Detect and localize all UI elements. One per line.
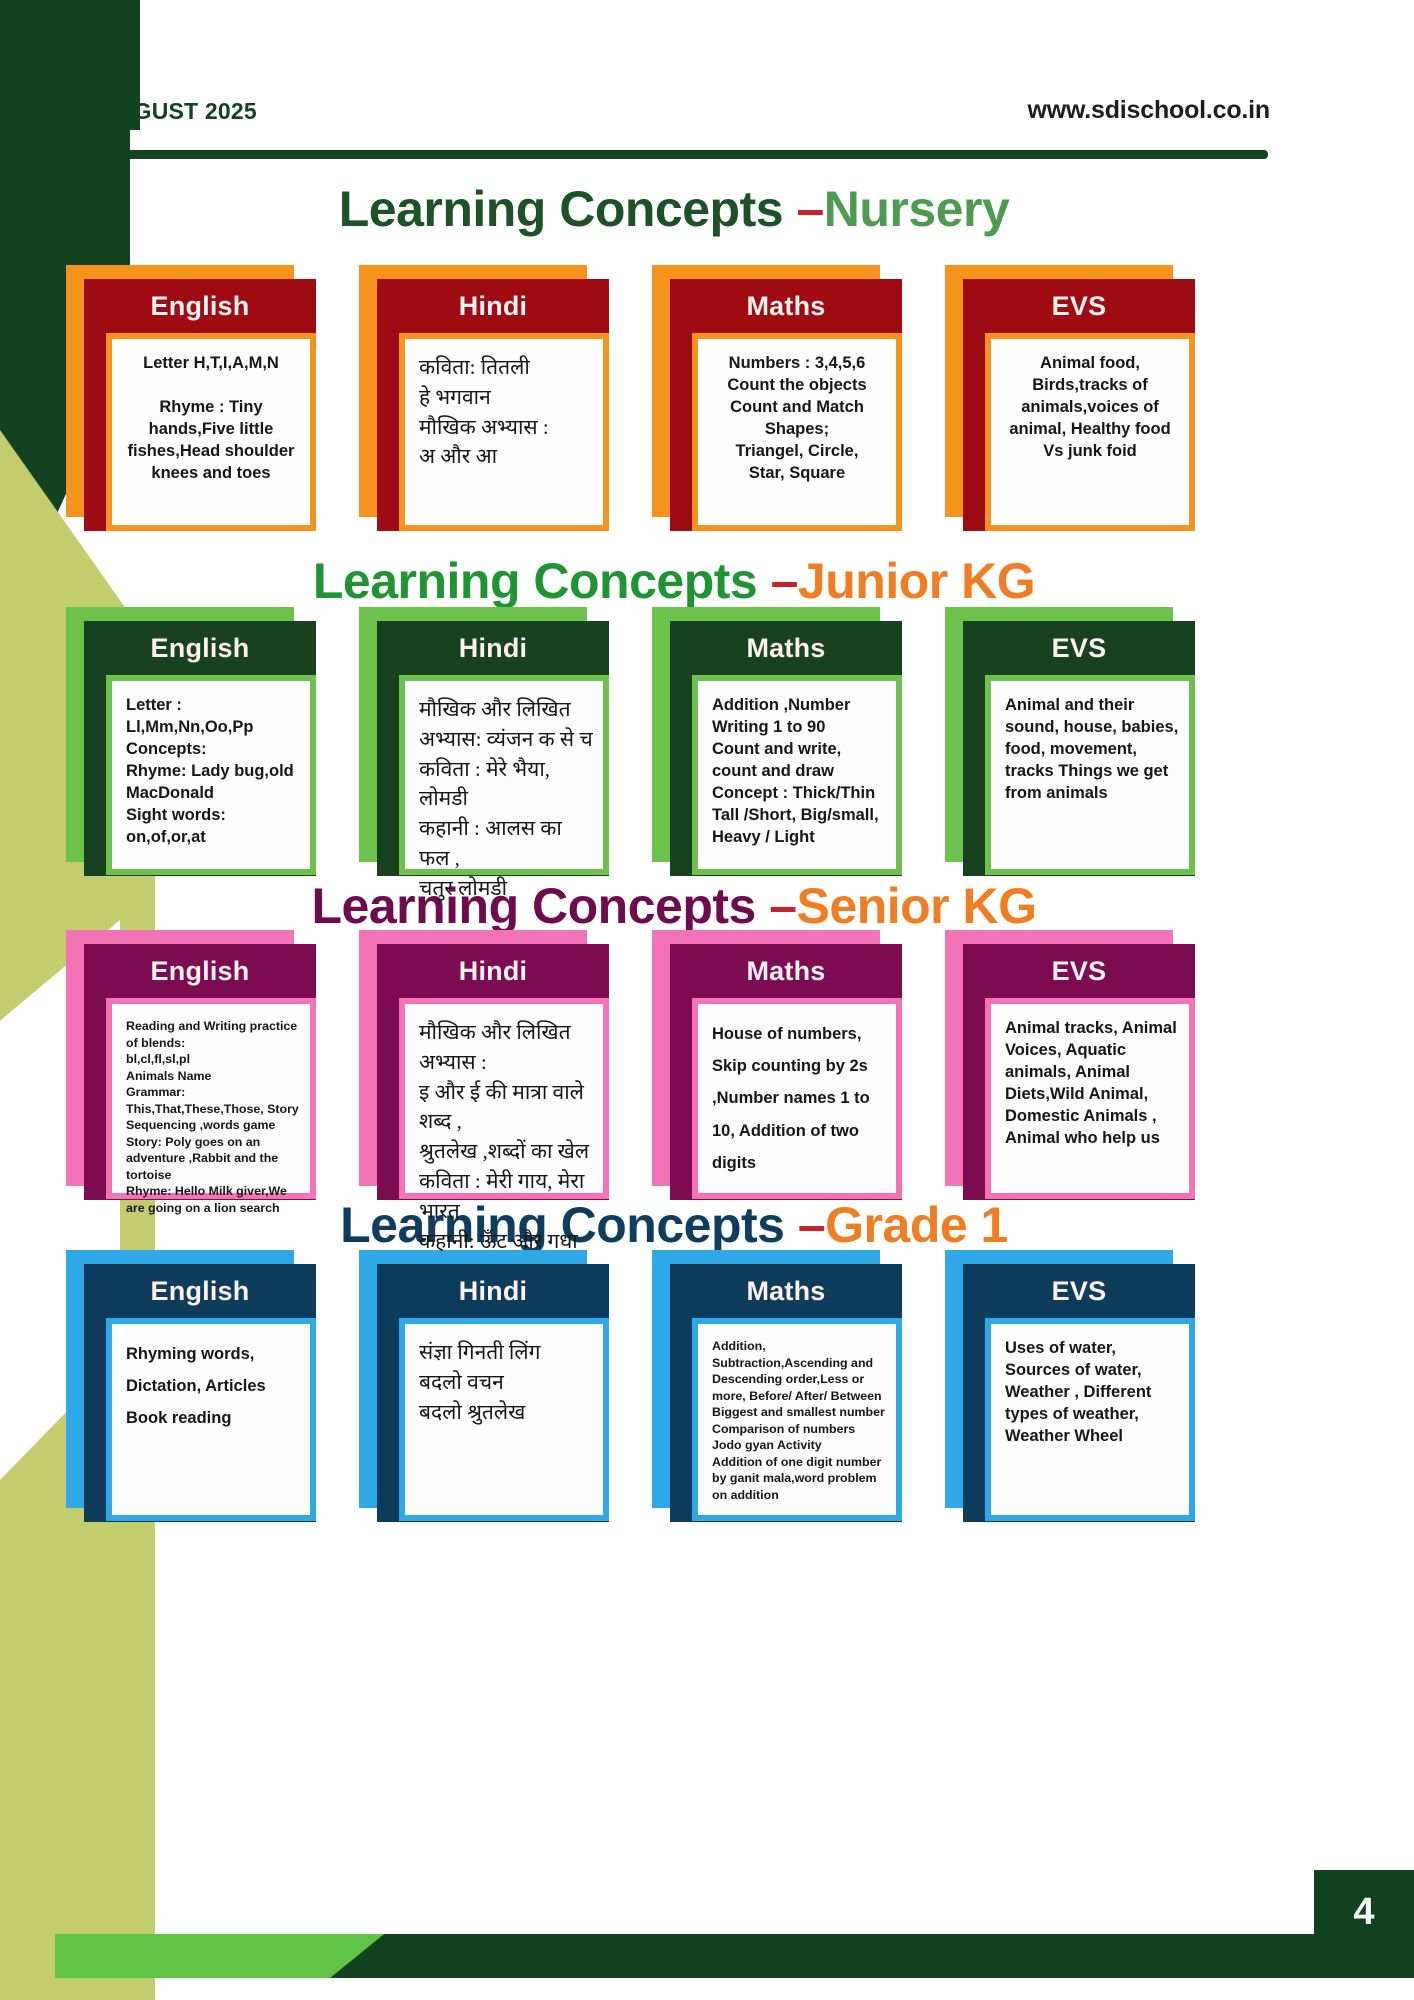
card-content-box: Letter : Ll,Mm,Nn,Oo,Pp Concepts: Rhyme:… <box>106 675 316 875</box>
card-subject-title: English <box>84 1264 316 1318</box>
decorative-bottom-green-bar <box>55 1934 385 1978</box>
card-content-text: Reading and Writing practice of blends: … <box>122 1018 300 1216</box>
card-content-text: Numbers : 3,4,5,6 Count the objects Coun… <box>708 353 886 485</box>
page-number-badge: 4 <box>1314 1870 1414 1954</box>
card-content-box: मौखिक और लिखित अभ्यास : इ और ई की मात्रा… <box>399 998 609 1199</box>
document-header: AUGUST 2025 www.sdischool.co.in <box>100 96 1270 125</box>
section-title-prefix: Learning Concepts <box>339 181 797 237</box>
card-content-box: Letter H,T,I,A,M,N Rhyme : Tiny hands,Fi… <box>106 333 316 531</box>
card-content-text: मौखिक और लिखित अभ्यास : इ और ई की मात्रा… <box>415 1018 593 1257</box>
decorative-bottom-darkgreen-bar <box>330 1934 1414 1978</box>
section-title-grade: Junior KG <box>798 553 1035 609</box>
section-title-nursery: Learning Concepts –Nursery <box>0 180 1348 238</box>
card-content-text: संज्ञा गिनती लिंग बदलो वचन बदलो श्रुतलेख <box>415 1338 593 1427</box>
card-subject-title: Hindi <box>377 944 609 998</box>
card-content-box: Addition, Subtraction,Ascending and Desc… <box>692 1318 902 1521</box>
card-subject-title: Hindi <box>377 621 609 675</box>
card-subject-title: EVS <box>963 621 1195 675</box>
section-title-dash: – <box>798 1197 825 1253</box>
page-number: 4 <box>1353 1891 1374 1934</box>
section-title-junior-kg: Learning Concepts –Junior KG <box>0 552 1348 610</box>
card-content-box: कविता: तितली हे भगवान मौखिक अभ्यास : अ औ… <box>399 333 609 531</box>
card-subject-title: EVS <box>963 1264 1195 1318</box>
card-content-text: Animal and their sound, house, babies, f… <box>1001 695 1179 805</box>
card-content-text: Addition ,Number Writing 1 to 90 Count a… <box>708 695 886 849</box>
card-content-box: मौखिक और लिखित अभ्यास: व्यंजन क से च कवि… <box>399 675 609 875</box>
issue-month: AUGUST 2025 <box>100 98 257 125</box>
header-divider <box>104 150 1268 159</box>
card-subject-title: Maths <box>670 279 902 333</box>
card-content-text: Animal tracks, Animal Voices, Aquatic an… <box>1001 1018 1179 1150</box>
card-content-box: House of numbers, Skip counting by 2s ,N… <box>692 998 902 1199</box>
card-subject-title: English <box>84 621 316 675</box>
section-title-dash: – <box>769 878 796 934</box>
card-content-box: Rhyming words, Dictation, Articles Book … <box>106 1318 316 1521</box>
website-url: www.sdischool.co.in <box>1027 96 1270 125</box>
card-subject-title: English <box>84 944 316 998</box>
card-content-box: Reading and Writing practice of blends: … <box>106 998 316 1199</box>
section-title-dash: – <box>771 553 798 609</box>
section-title-senior-kg: Learning Concepts –Senior KG <box>0 877 1348 935</box>
card-content-box: संज्ञा गिनती लिंग बदलो वचन बदलो श्रुतलेख <box>399 1318 609 1521</box>
section-title-grade: Senior KG <box>797 878 1037 934</box>
card-content-text: Animal food, Birds,tracks of animals,voi… <box>1001 353 1179 463</box>
card-content-box: Animal and their sound, house, babies, f… <box>985 675 1195 875</box>
card-subject-title: Maths <box>670 944 902 998</box>
section-title-dash: – <box>796 181 823 237</box>
card-subject-title: EVS <box>963 279 1195 333</box>
card-content-box: Animal tracks, Animal Voices, Aquatic an… <box>985 998 1195 1199</box>
card-content-box: Uses of water, Sources of water, Weather… <box>985 1318 1195 1521</box>
card-content-text: Addition, Subtraction,Ascending and Desc… <box>708 1338 886 1503</box>
card-content-text: Letter : Ll,Mm,Nn,Oo,Pp Concepts: Rhyme:… <box>122 695 300 849</box>
section-title-grade: Nursery <box>824 181 1010 237</box>
section-title-prefix: Learning Concepts <box>313 553 771 609</box>
card-content-box: Numbers : 3,4,5,6 Count the objects Coun… <box>692 333 902 531</box>
card-content-text: Letter H,T,I,A,M,N Rhyme : Tiny hands,Fi… <box>122 353 300 485</box>
card-subject-title: EVS <box>963 944 1195 998</box>
card-content-box: Addition ,Number Writing 1 to 90 Count a… <box>692 675 902 875</box>
card-content-box: Animal food, Birds,tracks of animals,voi… <box>985 333 1195 531</box>
card-content-text: Uses of water, Sources of water, Weather… <box>1001 1338 1179 1448</box>
card-content-text: House of numbers, Skip counting by 2s ,N… <box>708 1018 886 1179</box>
card-subject-title: Maths <box>670 1264 902 1318</box>
card-subject-title: Hindi <box>377 1264 609 1318</box>
card-content-text: मौखिक और लिखित अभ्यास: व्यंजन क से च कवि… <box>415 695 593 904</box>
card-content-text: कविता: तितली हे भगवान मौखिक अभ्यास : अ औ… <box>415 353 593 472</box>
card-content-text: Rhyming words, Dictation, Articles Book … <box>122 1338 300 1435</box>
section-title-grade: Grade 1 <box>825 1197 1008 1253</box>
card-subject-title: Maths <box>670 621 902 675</box>
card-subject-title: Hindi <box>377 279 609 333</box>
card-subject-title: English <box>84 279 316 333</box>
